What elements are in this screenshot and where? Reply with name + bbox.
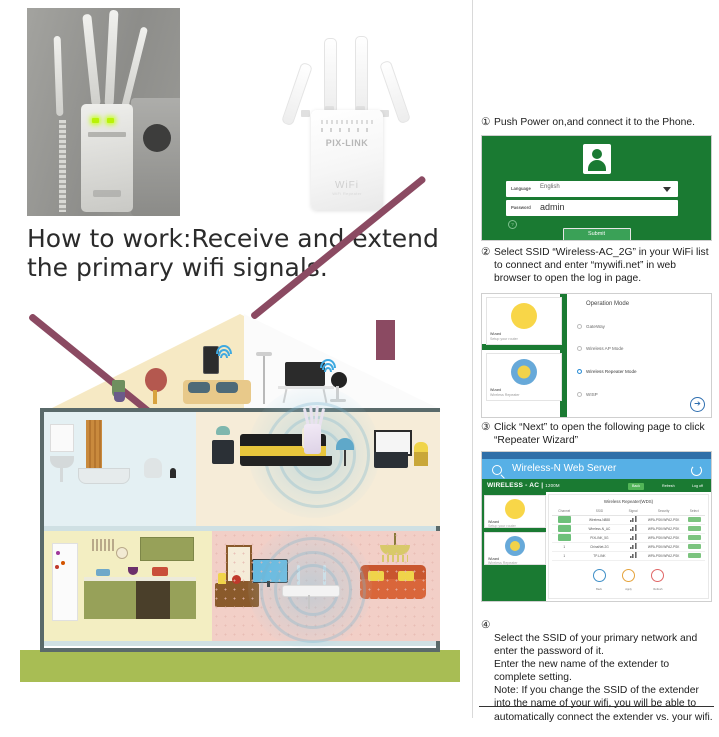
fridge-magnet-2 (55, 565, 59, 569)
step-2-text: Select SSID “Wireless-AC_2G” in your WiF… (481, 246, 713, 285)
bedroom-lamp-pole (344, 450, 346, 466)
globe-core (518, 366, 531, 379)
back-circle-icon[interactable] (593, 569, 606, 582)
status-led-wifi (107, 118, 114, 123)
action-back-label: Back (587, 588, 612, 591)
channel-badge (558, 525, 571, 532)
apply-circle-icon[interactable] (622, 569, 635, 582)
wireless-globe-icon (511, 359, 537, 385)
status-led-power (92, 118, 99, 123)
cell-security: WPA-PSK/WPA2-PSK (644, 554, 684, 558)
bedroom-lamp-shade (336, 438, 354, 450)
armchair-leg (153, 390, 157, 404)
search-text: Wireless-N Web Server (512, 463, 616, 474)
radio-label-gateway: GateWay (586, 324, 605, 329)
vent-slots (321, 120, 373, 124)
smartphone-wifi-signal (218, 344, 234, 358)
upper-cabinets (140, 537, 194, 561)
col-security: Security (644, 509, 684, 513)
action-refresh-label: Refresh (645, 588, 670, 591)
select-button[interactable] (688, 553, 701, 558)
wifi-logo-strip (93, 190, 121, 197)
instructions-column: ① Push Power on,and connect it to the Ph… (472, 0, 719, 718)
wifi-router-device (282, 585, 340, 597)
cell-ssid: TP-LINK (576, 554, 622, 558)
wall-clock (116, 547, 128, 559)
ws-sidecard-sub-2: Wireless Repeater (488, 561, 518, 566)
room-bathroom (44, 412, 196, 526)
cell-security: WPA-PSK/WPA2-PSK (644, 527, 684, 531)
cell-security: WPA-PSK/WPA2-PSK (644, 518, 684, 522)
attic-pillow-left (188, 382, 210, 393)
lower-cabinet-right (170, 581, 196, 619)
cell-channel: 1 (552, 554, 576, 558)
wifi-extender-device (304, 424, 321, 454)
brand-text: WIRELESS - AC | (487, 482, 545, 489)
refresh-circle-icon[interactable] (651, 569, 664, 582)
table-row[interactable]: Wireless-N888 WPA-PSK/WPA2-PSK (552, 516, 705, 525)
step-1-number: ① (481, 116, 490, 129)
sofa-cushion-right (398, 571, 414, 581)
cell-select[interactable] (684, 544, 705, 550)
oven (136, 581, 170, 619)
step-4-text: Select the SSID of your primary network … (481, 632, 713, 723)
step-3: ③ Click “Next” to open the following pag… (481, 421, 713, 447)
bowl (128, 567, 138, 575)
antenna-center-left (324, 38, 337, 114)
table-row[interactable]: 1 ChinaNet-2G WPA-PSK/WPA2-PSK (552, 543, 705, 552)
table-row[interactable]: Wireless-N_AC WPA-PSK/WPA2-PSK (552, 525, 705, 534)
bottom-rule (479, 706, 714, 707)
extender-body (81, 104, 133, 212)
channel-badge (558, 534, 571, 541)
radio-option-wisp[interactable]: WISP (586, 392, 598, 397)
extender-product-photo: PIX-LINK WiFi WiFi Repeater (283, 6, 409, 218)
ground-lawn (20, 650, 460, 682)
select-button[interactable] (688, 517, 701, 522)
room-living-room (212, 531, 440, 641)
radio-option-gateway[interactable]: GateWay (586, 324, 605, 329)
search-icon (492, 465, 502, 475)
action-apply-label: Apply (616, 588, 641, 591)
panel-title: Wireless Repeater(WDS) (549, 499, 708, 504)
armchair-back (145, 368, 167, 392)
console-vase-yellow (218, 573, 226, 584)
logoff-button[interactable]: Log off (688, 483, 707, 490)
utensil-rack (92, 539, 114, 551)
browser-search-bar[interactable]: Wireless-N Web Server (482, 459, 711, 479)
brand-strip (88, 132, 126, 137)
signal-bars-icon (630, 552, 637, 558)
fridge-magnet-1 (56, 551, 60, 555)
brand-speed: 1200M (545, 483, 559, 488)
lower-cabinet-left (84, 581, 136, 619)
step-4-number: ④ (481, 619, 490, 632)
cell-signal (622, 552, 643, 559)
chandelier-crystals (382, 555, 408, 562)
extender-body-front: PIX-LINK WiFi WiFi Repeater (311, 110, 383, 210)
submit-button[interactable]: Submit (563, 228, 631, 241)
house-interior (40, 408, 440, 652)
cell-signal (622, 525, 643, 532)
cutaway-house-illustration (20, 292, 460, 692)
cell-channel (552, 516, 576, 524)
radio-label-wisp: WISP (586, 392, 598, 397)
plant-pot (114, 392, 125, 402)
signal-bars-icon (630, 534, 637, 540)
select-button[interactable] (688, 535, 701, 540)
pot (152, 567, 168, 576)
floor-lamp-pole (263, 356, 265, 404)
cell-channel (552, 525, 576, 533)
cell-signal (622, 543, 643, 550)
ap-scan-table: Channel SSID Signal Security Select Wire… (552, 509, 705, 561)
antenna-center-right (355, 36, 368, 114)
infographic-page: PIX-LINK WiFi WiFi Repeater How to work:… (0, 0, 719, 718)
chandelier-shade (380, 545, 410, 555)
action-back[interactable]: Back (587, 569, 612, 591)
room-bedroom (196, 412, 440, 526)
cutting-board (96, 569, 110, 576)
ws-globe-core (510, 541, 520, 551)
brand-label: PIX-LINK (311, 138, 383, 148)
col-ssid: SSID (576, 509, 622, 513)
login-screen-screenshot: Language English Password admin ? Submit (481, 135, 712, 241)
cell-ssid: ChinaNet-2G (576, 545, 622, 549)
ws-wizard-icon (505, 499, 525, 519)
wifi-logo-text: WiFi (335, 180, 359, 191)
chimney (376, 320, 395, 360)
cell-signal (622, 516, 643, 523)
bathtub (78, 468, 130, 484)
action-apply[interactable]: Apply (616, 569, 641, 591)
password-value: admin (540, 202, 565, 212)
password-label: Password (511, 205, 531, 210)
step-3-number: ③ (481, 421, 490, 434)
chevron-down-icon[interactable] (663, 187, 671, 192)
refresh-button[interactable]: Refresh (658, 483, 679, 490)
step-2-number: ② (481, 246, 490, 259)
cell-channel (552, 534, 576, 542)
signal-bars-icon (630, 525, 637, 531)
radio-dot-wireless-repeater[interactable] (577, 369, 582, 374)
cell-ssid: PIXLINK_5G (576, 536, 622, 540)
refrigerator (52, 543, 78, 621)
cell-select[interactable] (684, 535, 705, 541)
radio-label-wireless-ap: Wireless AP Mode (586, 346, 623, 351)
sidecard-wizard-top[interactable]: Wizard Setup your router (486, 297, 562, 345)
sidecard-top-sub: Setup your router (490, 337, 518, 342)
router-brand-bar: WIRELESS - AC | 1200M Back Refresh Log o… (482, 479, 711, 492)
refresh-icon[interactable] (691, 465, 702, 476)
plunger (170, 468, 176, 478)
bathroom-mirror (50, 424, 74, 452)
radio-option-wireless-ap[interactable]: Wireless AP Mode (586, 346, 623, 351)
router-table-leg (308, 595, 310, 609)
step-2: ② Select SSID “Wireless-AC_2G” in your W… (481, 246, 713, 285)
language-label: Language (511, 186, 531, 191)
ws-sidecard-repeater[interactable]: Wizard Wireless Repeater (484, 532, 546, 565)
table-row[interactable]: 1 TP-LINK WPA-PSK/WPA2-PSK (552, 552, 705, 561)
bedside-lamp (216, 426, 230, 435)
back-button[interactable]: Back (628, 483, 644, 490)
help-icon[interactable]: ? (508, 220, 517, 229)
cable (59, 120, 66, 212)
attic-tv (285, 362, 325, 386)
col-select: Select (684, 509, 705, 513)
repeater-scan-panel: Wireless Repeater(WDS) Channel SSID Sign… (548, 494, 709, 599)
step-1: ① Push Power on,and connect it to the Ph… (481, 116, 713, 129)
step-3-text: Click “Next” to open the following page … (481, 421, 713, 447)
radio-dot-gateway[interactable] (577, 324, 582, 329)
radio-dot-wisp[interactable] (577, 392, 582, 397)
cell-security: WPA-PSK/WPA2-PSK (644, 536, 684, 540)
radio-label-wireless-repeater: Wireless Repeater Mode (586, 369, 637, 374)
operation-mode-title: Operation Mode (586, 301, 629, 307)
radio-dot-wireless-ap[interactable] (577, 346, 582, 351)
cell-security: WPA-PSK/WPA2-PSK (644, 545, 684, 549)
cell-ssid: Wireless-N_AC (576, 527, 622, 531)
sidecard-wizard-bottom[interactable]: Wizard Wireless Repeater (486, 353, 562, 401)
col-channel: Channel (552, 509, 576, 513)
bed-base (240, 456, 332, 466)
screenshot-sidebar: Wizard Setup your router Wizard Wireless… (482, 492, 546, 601)
ws-sidecard-sub-1: Setup your router (488, 524, 516, 529)
chair-seat (414, 452, 428, 466)
nightstand (212, 440, 234, 464)
sink-pedestal (60, 468, 63, 482)
console-vase-red (232, 575, 241, 584)
signal-bars-icon (630, 543, 637, 549)
cell-select[interactable] (684, 517, 705, 523)
sidecard-bottom-sub: Wireless Repeater (490, 393, 520, 398)
ws-globe-icon (505, 536, 525, 556)
toilet (144, 458, 162, 478)
cell-select[interactable] (684, 526, 705, 532)
action-refresh[interactable]: Refresh (645, 569, 670, 591)
panel-action-buttons: Back Apply Refresh (549, 569, 708, 595)
step-1-text: Push Power on,and connect it to the Phon… (481, 116, 713, 129)
left-column: PIX-LINK WiFi WiFi Repeater How to work:… (0, 0, 472, 718)
cell-ssid: Wireless-N888 (576, 518, 622, 522)
table-row[interactable]: PIXLINK_5G WPA-PSK/WPA2-PSK (552, 534, 705, 543)
language-field[interactable]: Language English (506, 181, 678, 197)
signal-bars-icon (630, 516, 637, 522)
cell-signal (622, 534, 643, 541)
wizard-icon (511, 303, 537, 329)
language-value: English (540, 184, 560, 190)
channel-badge (558, 516, 571, 523)
led-row (321, 128, 373, 132)
floor-lamp-shade (256, 352, 272, 356)
chair-back (414, 442, 428, 452)
phone-status-bar (482, 452, 711, 459)
step-4: ④ Select the SSID of your primary networ… (481, 606, 713, 737)
chandelier-cord (394, 533, 396, 545)
ws-sidecard-wizard[interactable]: Wizard Setup your router (484, 495, 546, 528)
dresser (374, 452, 408, 468)
office-chair-back (331, 372, 347, 388)
antenna-hinge-outer-left (301, 110, 310, 117)
router-brand-label: WIRELESS - AC | 1200M (487, 482, 560, 489)
wifi-logo: WiFi WiFi Repeater (311, 180, 383, 196)
select-button[interactable] (688, 526, 701, 531)
radio-option-wireless-repeater[interactable]: Wireless Repeater Mode (586, 369, 637, 374)
cell-select[interactable] (684, 553, 705, 559)
tv-wifi-signal (322, 358, 338, 372)
floor-divider-upper (44, 526, 436, 531)
fridge-magnet-3 (61, 561, 65, 565)
password-field[interactable]: Password admin (506, 200, 678, 216)
floor-divider-lower (44, 641, 436, 646)
select-button[interactable] (688, 544, 701, 549)
attic-pillow-right (216, 382, 238, 393)
col-signal: Signal (622, 509, 643, 513)
operation-mode-screenshot: Wizard Setup your router Wizard Wireless… (481, 293, 712, 418)
wall-socket (131, 98, 180, 216)
sidecard-bottom-label: Wizard (490, 388, 501, 393)
cell-channel: 1 (552, 545, 576, 549)
web-server-screenshot: Wireless-N Web Server WIRELESS - AC | 12… (481, 451, 712, 602)
extender-plugged-into-wall-outlet-photo (27, 8, 180, 216)
sink-basin (50, 456, 74, 468)
user-avatar-icon (583, 144, 611, 174)
next-arrow-button[interactable]: ➔ (690, 397, 705, 412)
page-headline: How to work:Receive and extend the prima… (27, 224, 447, 282)
wifi-logo-subtext: WiFi Repeater (311, 191, 383, 196)
room-kitchen (44, 531, 212, 641)
sidecard-top-label: Wizard (490, 332, 501, 337)
